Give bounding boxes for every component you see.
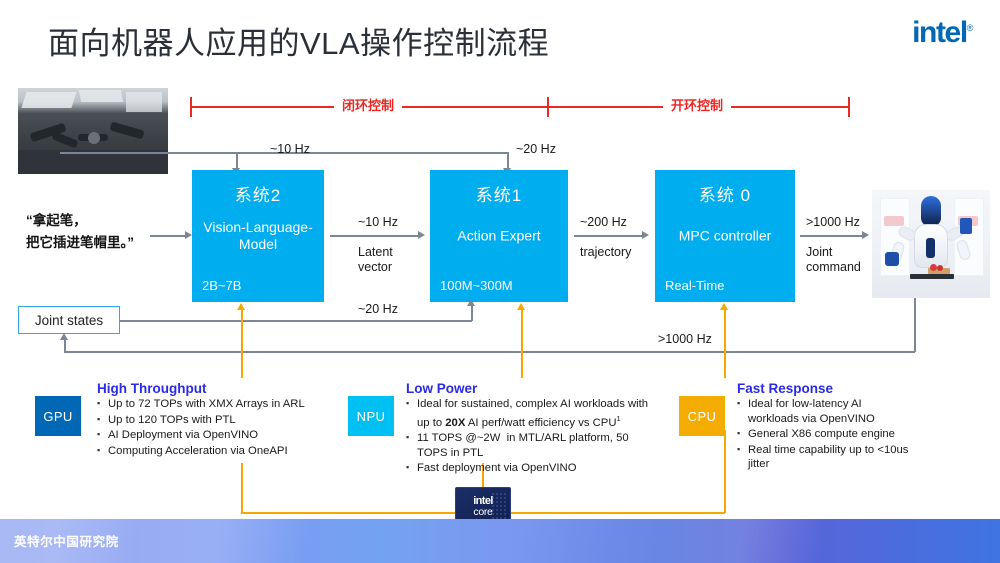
list-item: Ideal for low-latency AI workloads via O…	[737, 397, 912, 426]
npu-badge-label: NPU	[357, 409, 386, 424]
list-item: 11 TOPS @~2W in MTL/ARL platform, 50 TOP…	[406, 431, 659, 460]
slide-canvas: 面向机器人应用的VLA操作控制流程 intel® 闭环控制 开环控制 “拿起笔，…	[0, 0, 1000, 563]
list-item: Real time capability up to <10us jitter	[737, 443, 912, 472]
npu-badge[interactable]: NPU	[348, 396, 394, 436]
cpu-bullet-list: Ideal for low-latency AI workloads via O…	[737, 397, 912, 473]
footer-band	[0, 519, 1000, 563]
list-item: Up to 72 TOPs with XMX Arrays in ARL	[97, 397, 332, 412]
gpu-badge[interactable]: GPU	[35, 396, 81, 436]
npu-bullet-list: Ideal for sustained, complex AI workload…	[406, 397, 659, 477]
list-item: AI Deployment via OpenVINO	[97, 428, 332, 443]
gpu-to-chip-line	[241, 463, 243, 513]
cpu-to-chip-line	[724, 430, 726, 513]
npu-to-sys1-arrowhead	[517, 303, 525, 310]
npu-to-sys1-line	[521, 310, 523, 378]
list-item: Computing Acceleration via OneAPI	[97, 444, 332, 459]
cpu-to-sys0-arrowhead	[720, 303, 728, 310]
list-item: General X86 compute engine	[737, 427, 912, 442]
cpu-heading: Fast Response	[737, 381, 833, 396]
cpu-chip-bus-right	[509, 512, 725, 514]
cpu-badge[interactable]: CPU	[679, 396, 725, 436]
cpu-badge-label: CPU	[688, 409, 717, 424]
gpu-bullet-list: Up to 72 TOPs with XMX Arrays in ARL Up …	[97, 397, 332, 459]
gpu-badge-label: GPU	[43, 409, 72, 424]
gpu-to-sys2-line	[241, 310, 243, 378]
list-item: Fast deployment via OpenVINO	[406, 461, 659, 476]
cpu-to-sys0-line	[724, 310, 726, 378]
npu-heading: Low Power	[406, 381, 477, 396]
footer-text: 英特尔中国研究院	[14, 531, 119, 550]
gpu-to-sys2-arrowhead	[237, 303, 245, 310]
list-item: Ideal for sustained, complex AI workload…	[406, 397, 659, 430]
gpu-heading: High Throughput	[97, 381, 206, 396]
list-item: Up to 120 TOPs with PTL	[97, 413, 332, 428]
gpu-chip-bus-left	[241, 512, 457, 514]
